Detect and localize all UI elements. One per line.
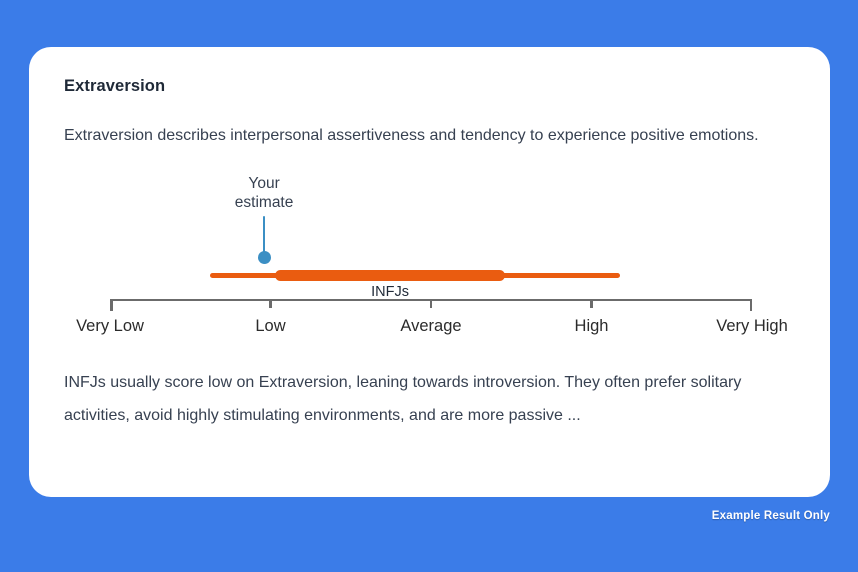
infj-range-inner <box>275 270 505 281</box>
infj-band-label: INFJs <box>320 284 460 300</box>
axis-label-very-high: Very High <box>667 317 837 336</box>
your-estimate-stem <box>263 216 266 256</box>
trait-footnote: INFJs usually score low on Extraversion,… <box>64 366 795 432</box>
page-title: Extraversion <box>64 77 795 97</box>
axis-label-high: High <box>507 317 677 336</box>
axis-label-low: Low <box>186 317 356 336</box>
axis-tick-average <box>430 299 433 308</box>
axis-label-average: Average <box>346 317 516 336</box>
axis-label-very-low: Very Low <box>25 317 195 336</box>
result-card: Extraversion Extraversion describes inte… <box>29 47 830 497</box>
watermark-label: Example Result Only <box>712 510 830 522</box>
axis-tick-very-high <box>750 299 753 311</box>
trait-description: Extraversion describes interpersonal ass… <box>64 119 795 152</box>
trait-chart: Your estimate INFJs Very LowLowAverageHi… <box>64 166 795 366</box>
your-estimate-label: Your estimate <box>204 174 324 212</box>
your-estimate-marker[interactable] <box>258 251 271 264</box>
axis-tick-low <box>269 299 272 308</box>
axis-tick-high <box>590 299 593 308</box>
axis-tick-very-low <box>110 299 113 311</box>
